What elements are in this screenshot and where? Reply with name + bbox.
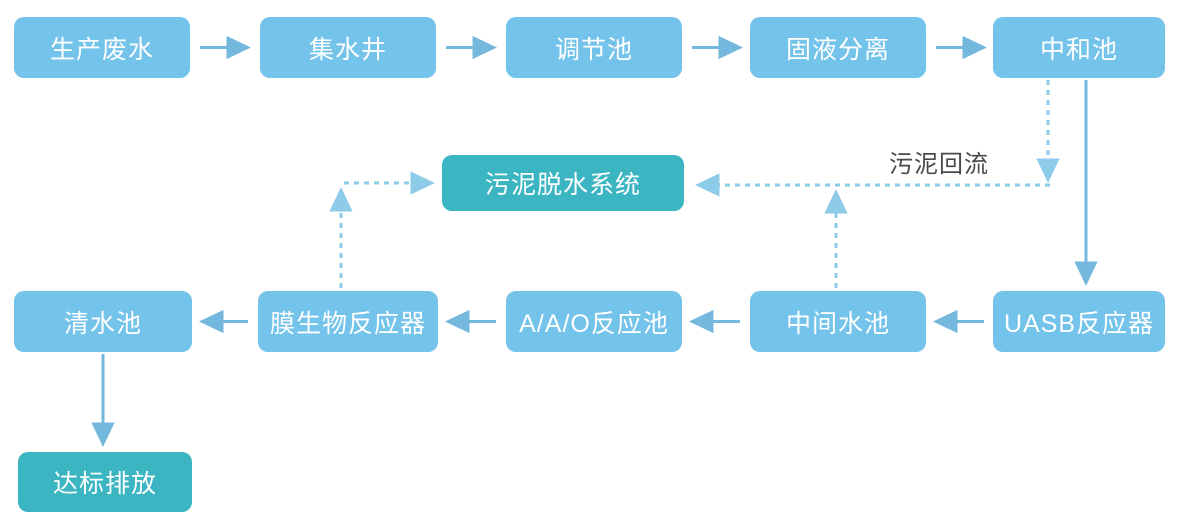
- node-label: A/A/O反应池: [519, 304, 669, 340]
- node-label: 集水井: [309, 30, 387, 66]
- node-collection-well[interactable]: 集水井: [260, 17, 436, 78]
- node-membrane-bioreactor[interactable]: 膜生物反应器: [258, 291, 438, 352]
- node-aao-reaction-tank[interactable]: A/A/O反应池: [506, 291, 682, 352]
- node-regulating-tank[interactable]: 调节池: [506, 17, 682, 78]
- node-label: 污泥脱水系统: [485, 165, 641, 201]
- node-label: 中间水池: [786, 304, 890, 340]
- node-intermediate-tank[interactable]: 中间水池: [750, 291, 926, 352]
- node-label: 达标排放: [53, 464, 157, 500]
- node-production-wastewater[interactable]: 生产废水: [14, 17, 190, 78]
- node-sludge-dewatering-system[interactable]: 污泥脱水系统: [442, 155, 684, 211]
- node-solid-liquid-separation[interactable]: 固液分离: [750, 17, 926, 78]
- flow-connectors: [0, 0, 1177, 523]
- node-uasb-reactor[interactable]: UASB反应器: [993, 291, 1165, 352]
- node-label: 清水池: [64, 304, 142, 340]
- node-clean-water-tank[interactable]: 清水池: [14, 291, 192, 352]
- node-label: 生产废水: [50, 30, 154, 66]
- node-label: 固液分离: [786, 30, 890, 66]
- node-neutralization-tank[interactable]: 中和池: [993, 17, 1165, 78]
- node-label: 中和池: [1040, 30, 1118, 66]
- node-compliant-discharge[interactable]: 达标排放: [18, 452, 192, 512]
- edge-label-sludge-return: 污泥回流: [889, 144, 989, 179]
- node-label: 膜生物反应器: [270, 304, 426, 340]
- flowchart-canvas: 生产废水 集水井 调节池 固液分离 中和池 污泥脱水系统 UASB反应器 中间水…: [0, 0, 1177, 523]
- node-label: UASB反应器: [1004, 304, 1154, 340]
- node-label: 调节池: [555, 30, 633, 66]
